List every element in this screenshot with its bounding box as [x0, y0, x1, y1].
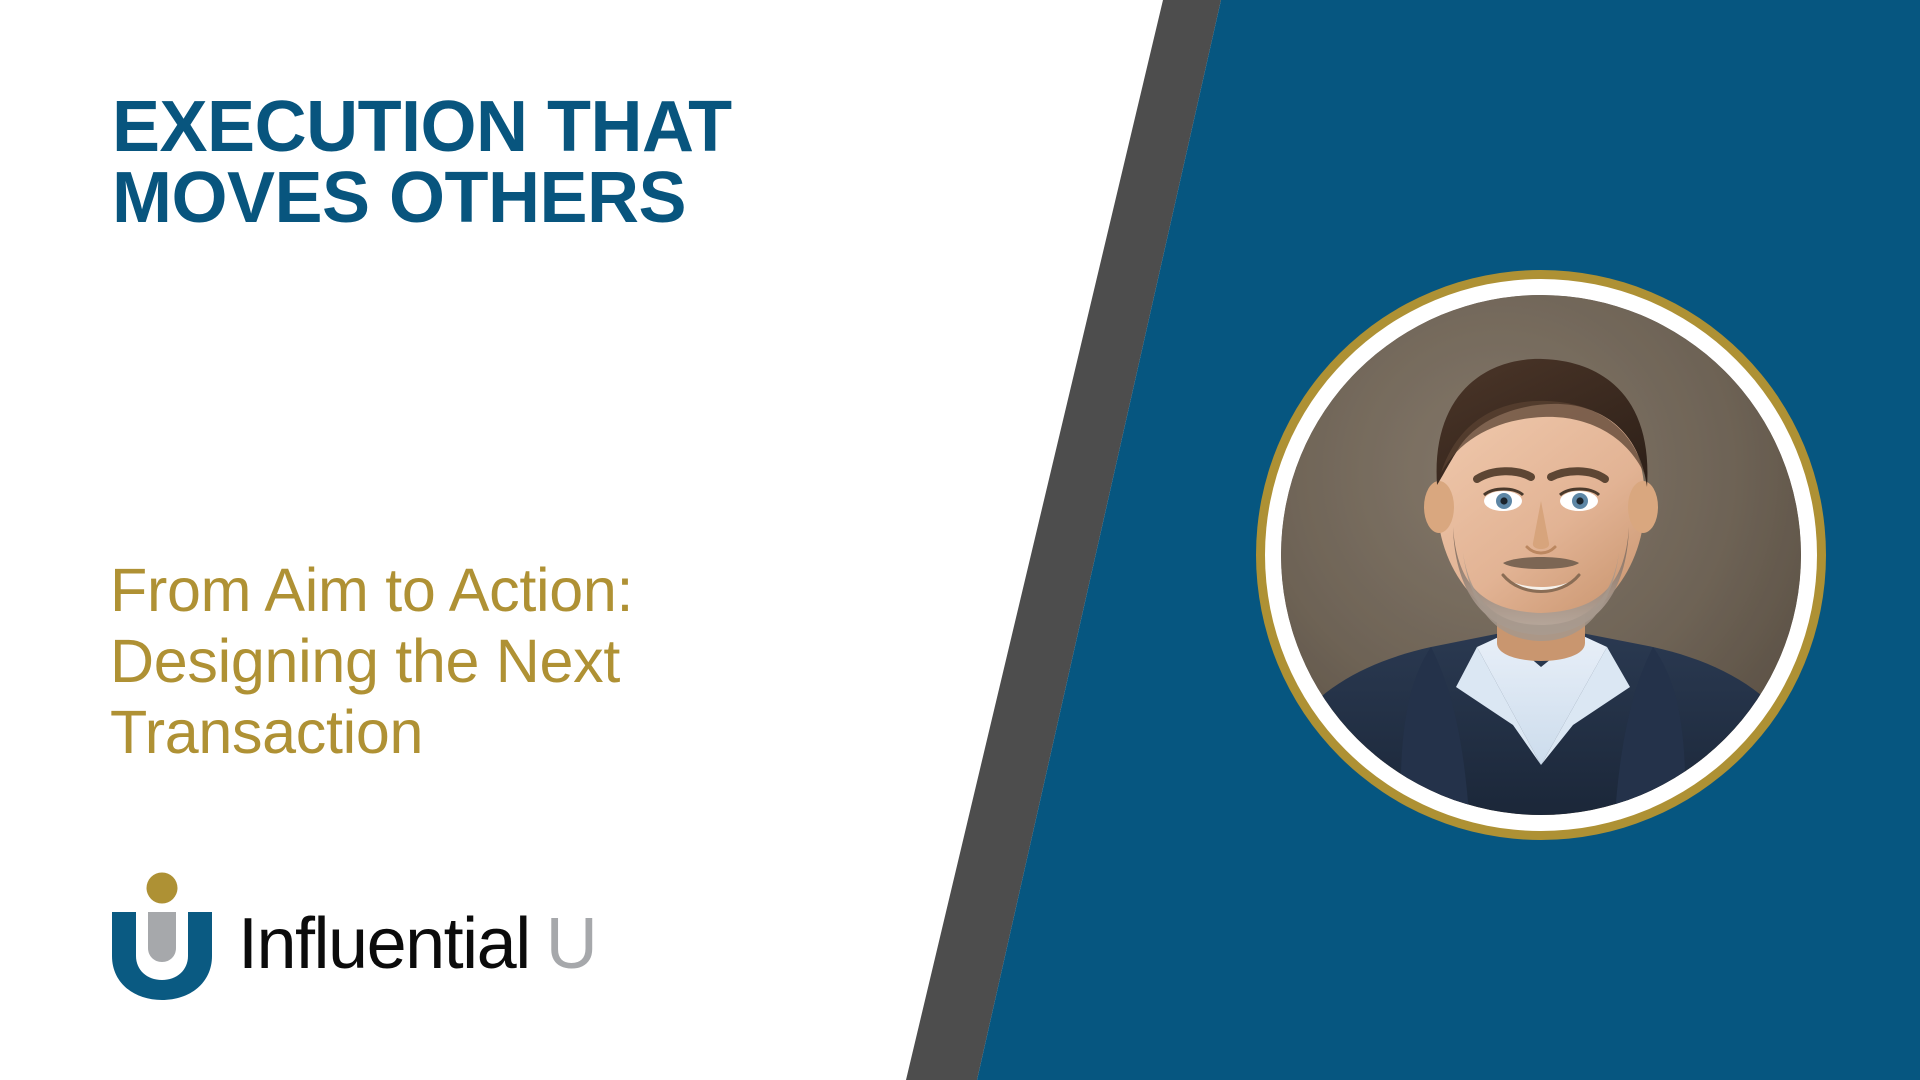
subheadline-line-1: From Aim to Action: — [110, 555, 890, 626]
subheadline-line-3: Transaction — [110, 697, 890, 768]
slide-subheadline: From Aim to Action: Designing the Next T… — [110, 555, 890, 767]
left-content-column: EXECUTION THAT MOVES OTHERS From Aim to … — [0, 0, 900, 1080]
headline-line-1: EXECUTION THAT — [112, 92, 872, 163]
wordmark-u: U — [546, 908, 597, 980]
logo-gold-dot — [147, 873, 178, 904]
headline-line-2: MOVES OTHERS — [112, 163, 872, 234]
influential-u-mark-icon — [110, 872, 214, 1000]
influential-u-wordmark: Influential U — [238, 908, 596, 980]
influential-u-logo: Influential U — [110, 872, 596, 1000]
presentation-slide: EXECUTION THAT MOVES OTHERS From Aim to … — [0, 0, 1920, 1080]
gray-diagonal-stripe — [906, 0, 1221, 1080]
slide-headline: EXECUTION THAT MOVES OTHERS — [112, 92, 872, 235]
subheadline-line-2: Designing the Next — [110, 626, 890, 697]
wordmark-influential: Influential — [238, 908, 530, 980]
portrait-frame — [1256, 270, 1826, 840]
speaker-headshot-photo — [1281, 295, 1801, 815]
logo-gray-capsule — [148, 912, 176, 962]
